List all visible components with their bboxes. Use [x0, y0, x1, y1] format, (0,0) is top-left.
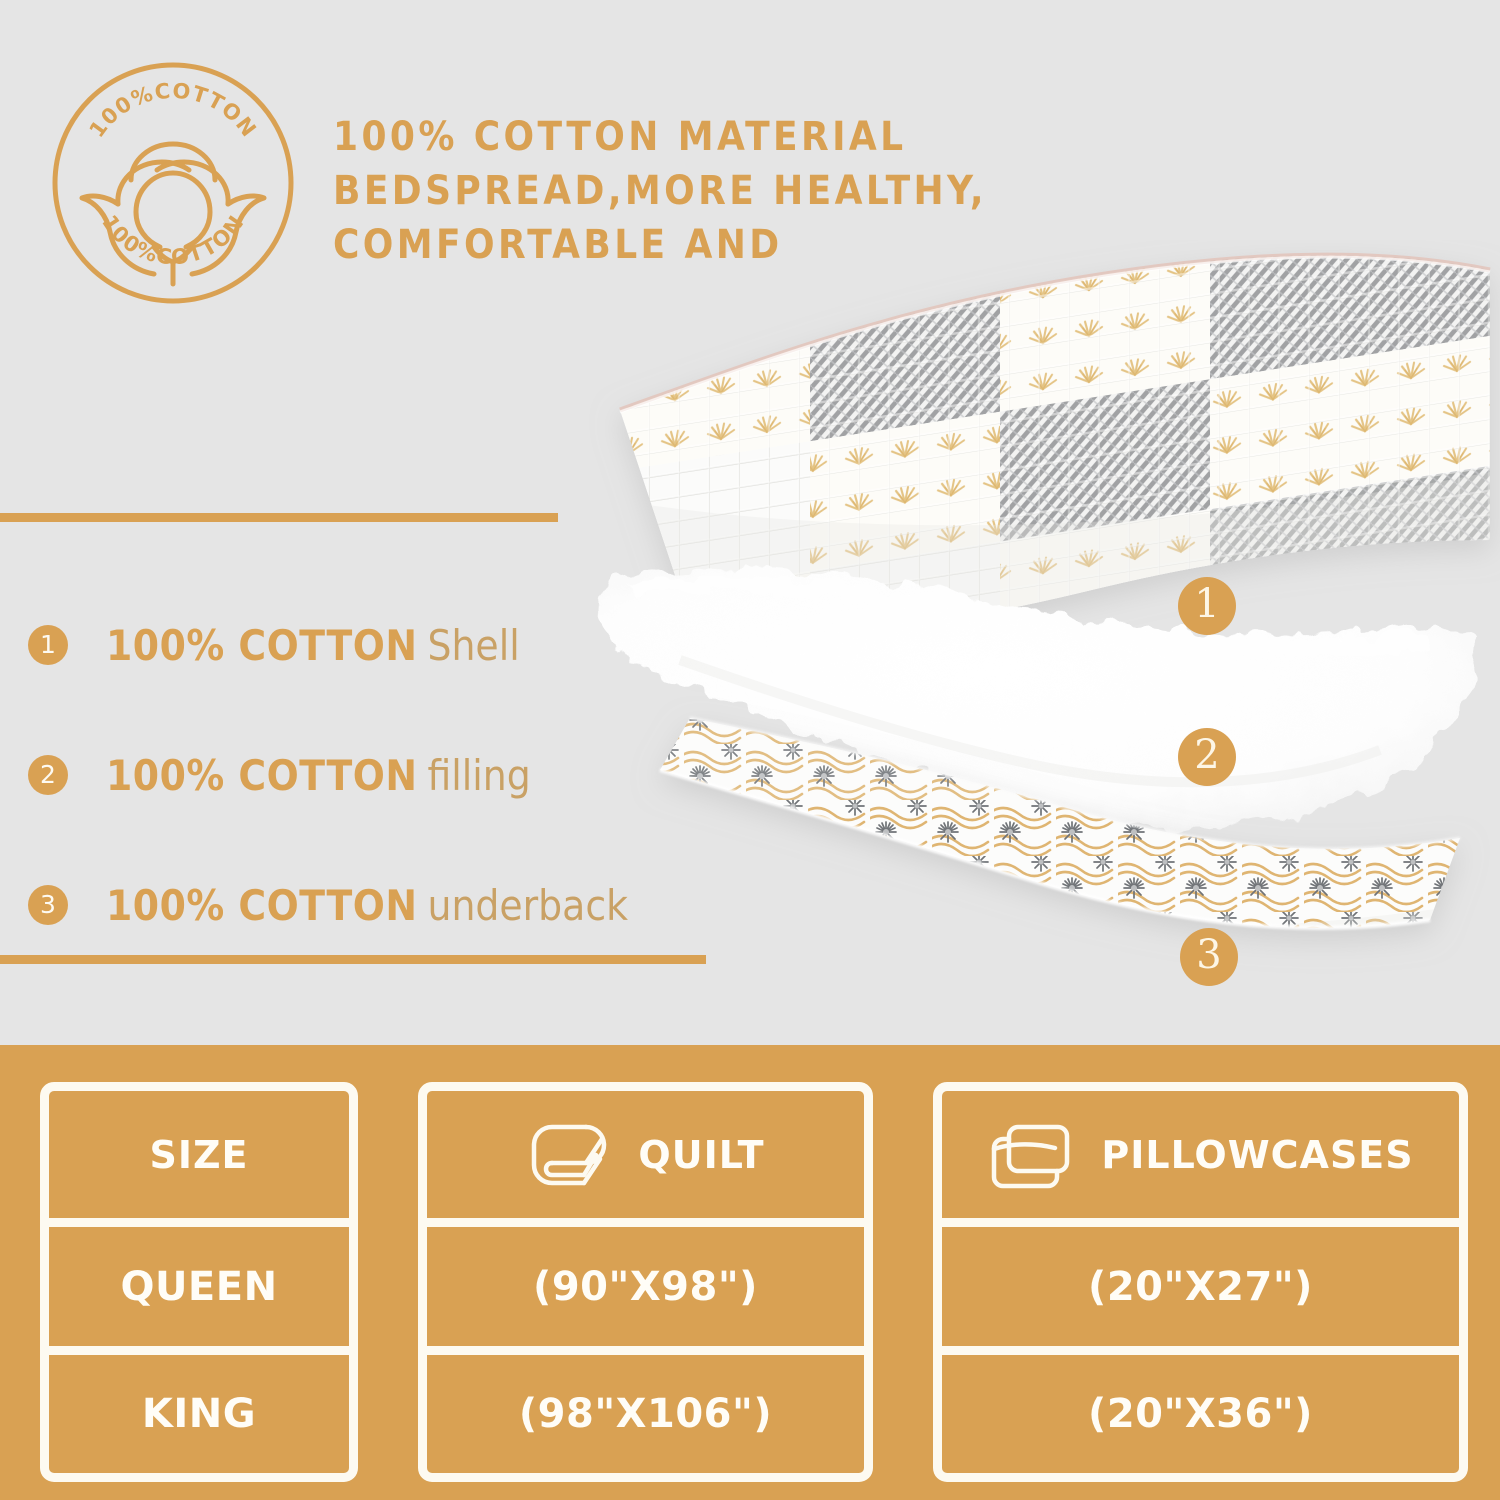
product-layers-photo	[560, 240, 1500, 1040]
size-table-grid: SIZE QUILT	[40, 1082, 1470, 1482]
table-row-king-size: KING	[40, 1355, 358, 1482]
king-pillowcases-value: (20"X36")	[1088, 1391, 1313, 1437]
table-row-queen-pillowcases: (20"X27")	[933, 1227, 1468, 1355]
pillowcases-icon	[987, 1119, 1075, 1191]
king-quilt-value: (98"X106")	[519, 1391, 772, 1437]
feature-number-badge-3: 3	[28, 885, 68, 925]
headline-line-1: 100% COTTON MATERIAL	[333, 110, 1093, 164]
table-row-queen-quilt: (90"X98")	[418, 1227, 873, 1355]
table-header-pillowcases: PILLOWCASES	[933, 1082, 1468, 1227]
table-header-quilt-label: QUILT	[638, 1133, 764, 1177]
feature-label-2: 100% COTTONfilling	[106, 751, 531, 800]
table-header-quilt: QUILT	[418, 1082, 873, 1227]
svg-text:100%COTTON: 100%COTTON	[97, 211, 249, 270]
cotton-seal-badge: 100%COTTON 100%COTTON	[48, 58, 298, 308]
layer-badge-2: 2	[1178, 728, 1236, 786]
table-row-king-quilt: (98"X106")	[418, 1355, 873, 1482]
seal-bottom-text: 100%COTTON	[97, 211, 249, 270]
headline-line-2: BEDSPREAD,MORE HEALTHY,	[333, 164, 1093, 218]
cotton-boll-icon: 100%COTTON 100%COTTON	[48, 58, 298, 308]
feature-number-badge-2: 2	[28, 755, 68, 795]
folded-blanket-icon	[526, 1119, 612, 1191]
feature-strong-2: 100% COTTON	[106, 751, 417, 800]
seal-top-text: 100%COTTON	[85, 79, 262, 142]
feature-label-3: 100% COTTONunderback	[106, 881, 628, 930]
table-row-queen-size: QUEEN	[40, 1227, 358, 1355]
queen-pillowcases-value: (20"X27")	[1088, 1264, 1313, 1310]
divider-top	[0, 513, 558, 522]
layer-badge-1: 1	[1178, 577, 1236, 635]
layer-badge-3: 3	[1180, 928, 1238, 986]
king-size-value: KING	[142, 1391, 256, 1437]
infographic-canvas: 100%COTTON 100%COTTON 100% COTTON MATERI…	[0, 0, 1500, 1500]
feature-number-badge-1: 1	[28, 625, 68, 665]
queen-quilt-value: (90"X98")	[533, 1264, 758, 1310]
feature-light-2: filling	[427, 751, 530, 800]
table-header-size: SIZE	[40, 1082, 358, 1227]
table-row-king-pillowcases: (20"X36")	[933, 1355, 1468, 1482]
feature-label-1: 100% COTTONShell	[106, 621, 520, 670]
feature-strong-3: 100% COTTON	[106, 881, 417, 930]
feature-strong-1: 100% COTTON	[106, 621, 417, 670]
size-table: SIZE QUILT	[0, 1045, 1500, 1500]
table-header-pillowcases-label: PILLOWCASES	[1101, 1133, 1413, 1177]
feature-light-1: Shell	[427, 621, 519, 670]
table-header-size-label: SIZE	[149, 1133, 248, 1177]
queen-size-value: QUEEN	[120, 1264, 277, 1310]
svg-text:100%COTTON: 100%COTTON	[85, 79, 262, 142]
